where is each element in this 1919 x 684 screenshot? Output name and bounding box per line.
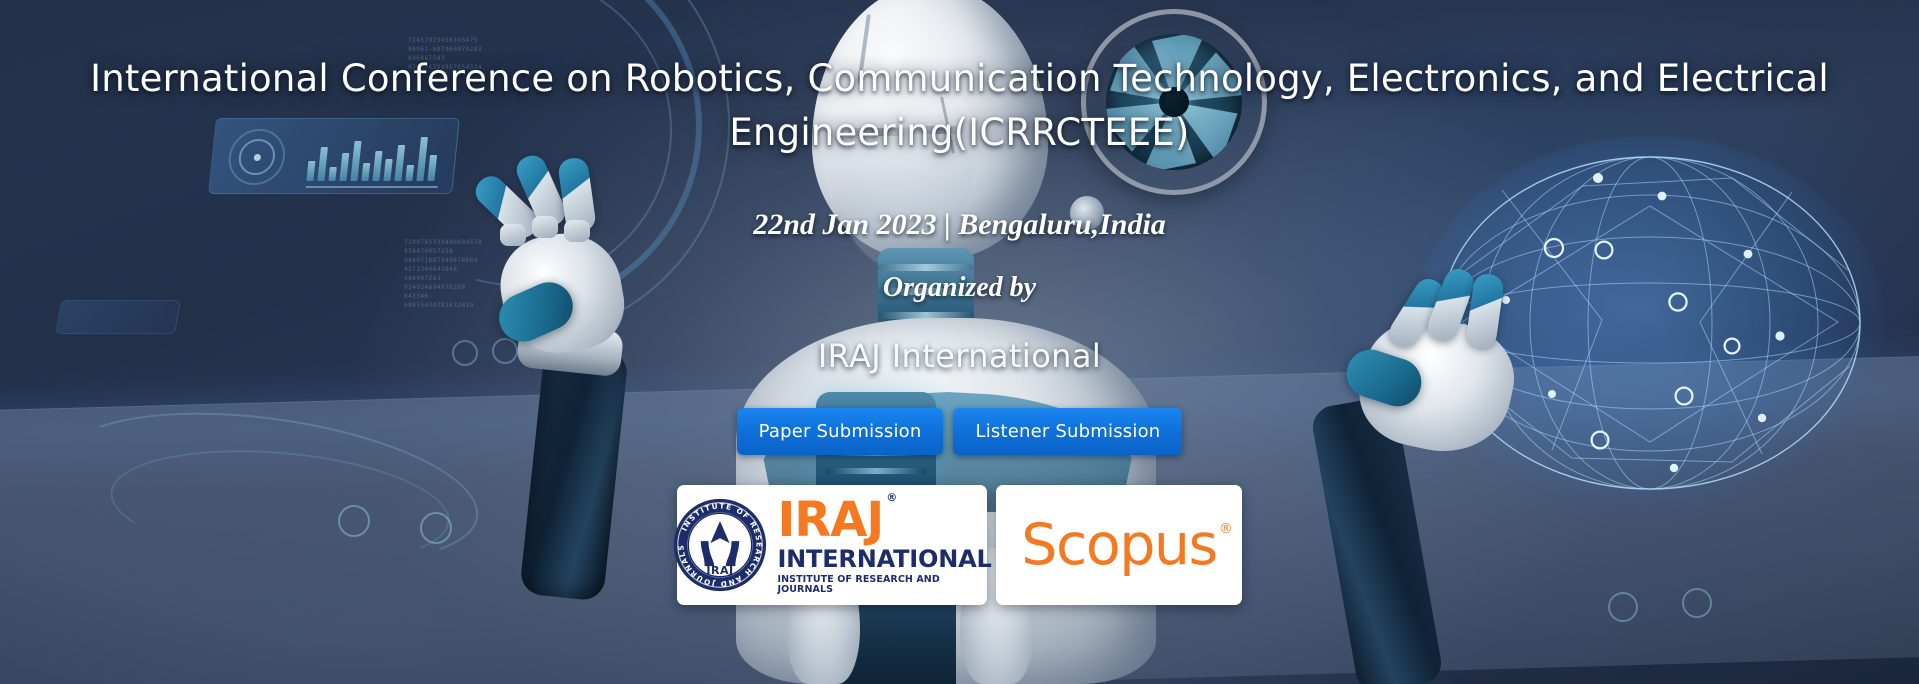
scopus-wordmark: Scopus <box>1021 512 1216 578</box>
scopus-registered-icon: ® <box>1219 521 1233 537</box>
svg-text:IRAJ: IRAJ <box>707 564 734 577</box>
paper-submission-button[interactable]: Paper Submission <box>737 408 944 455</box>
organizer-name: IRAJ International <box>0 337 1919 375</box>
submission-button-row: Paper Submission Listener Submission <box>0 408 1919 455</box>
iraj-seal-icon: INSTITUTE OF RESEARCH AND JOURNALS IRAJ <box>672 497 768 593</box>
scopus-logo-card[interactable]: Scopus ® <box>996 485 1242 605</box>
iraj-tagline: INSTITUTE OF RESEARCH AND JOURNALS <box>777 575 991 594</box>
conference-title: International Conference on Robotics, Co… <box>0 52 1919 160</box>
iraj-wordmark: IRAJ ® <box>777 496 883 544</box>
conference-banner: 72457923456395475 98961-687960879283 846… <box>0 0 1919 684</box>
conference-date-location: 22nd Jan 2023 | Bengaluru,India <box>0 208 1919 242</box>
iraj-wordmark-group: IRAJ ® INTERNATIONAL INSTITUTE OF RESEAR… <box>777 496 991 594</box>
logo-row: INSTITUTE OF RESEARCH AND JOURNALS IRAJ … <box>0 485 1919 605</box>
banner-content: International Conference on Robotics, Co… <box>0 0 1919 684</box>
iraj-logo-card[interactable]: INSTITUTE OF RESEARCH AND JOURNALS IRAJ … <box>677 485 987 605</box>
iraj-registered-icon: ® <box>886 492 896 503</box>
iraj-subtitle: INTERNATIONAL <box>777 547 991 571</box>
listener-submission-button[interactable]: Listener Submission <box>953 408 1182 455</box>
iraj-wordmark-text: IRAJ <box>777 492 883 548</box>
scopus-wordmark-group: Scopus ® <box>1021 517 1216 574</box>
organized-by-label: Organized by <box>0 272 1919 304</box>
